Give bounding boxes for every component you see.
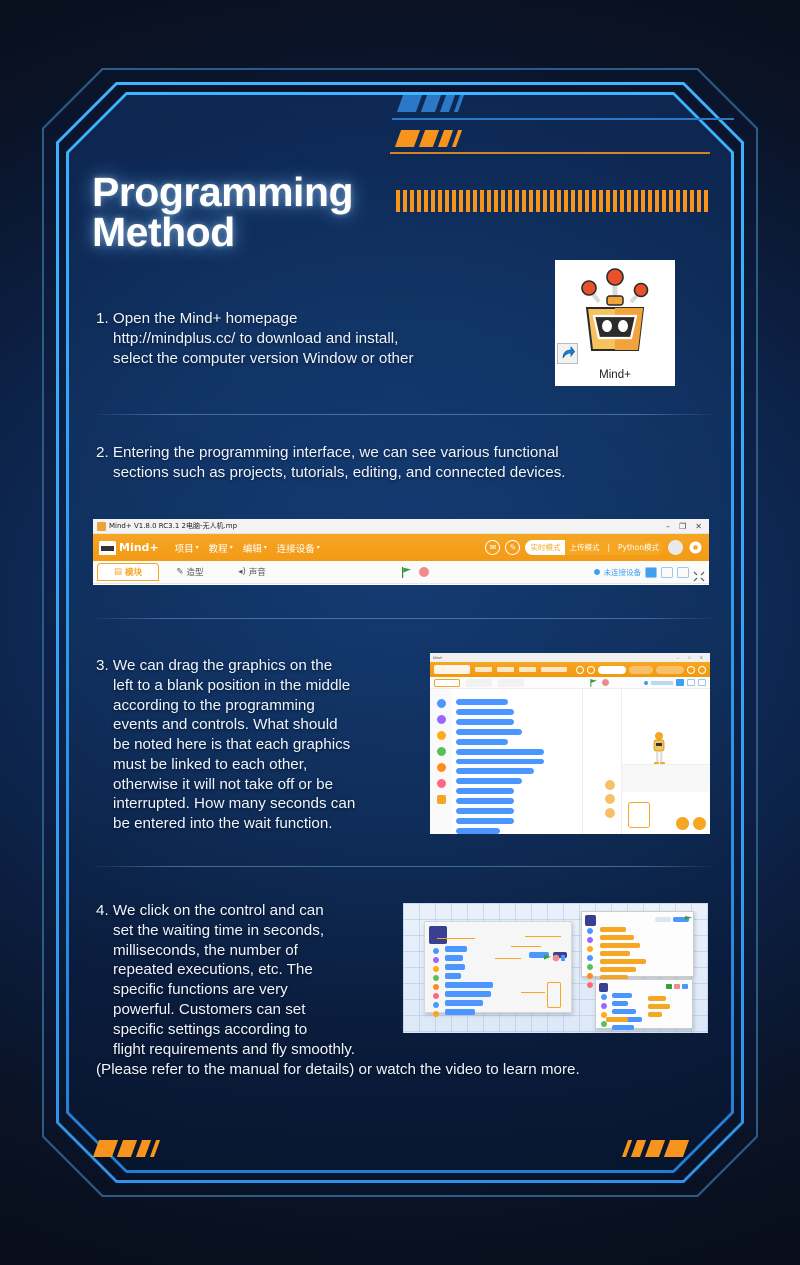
green-flag-icon[interactable] xyxy=(401,567,412,578)
window-title: Mind+ V1.8.0 RC3.1 2电脑-无人机.mp xyxy=(109,521,237,531)
step-1-number: 1. xyxy=(96,310,109,327)
s4-sub-panel-bottom[interactable] xyxy=(595,979,693,1029)
window-controls[interactable]: – ❐ ✕ xyxy=(666,522,705,531)
tab-modules[interactable]: ▤ 模块 xyxy=(97,563,159,581)
s3-workspace-canvas[interactable] xyxy=(582,689,622,834)
menu-item-project[interactable]: 项目 ▾ xyxy=(175,541,199,555)
s4-sub2-block[interactable] xyxy=(612,993,632,998)
step-4-line3: milliseconds, the number of xyxy=(96,941,396,961)
s4-sub-category-dot[interactable] xyxy=(587,982,593,988)
s3-tab-sounds[interactable] xyxy=(498,679,524,687)
step-4-line1: We click on the control and can xyxy=(113,902,324,919)
tab-sounds-label: 声音 xyxy=(249,566,266,578)
menu-label-connect-device: 连接设备 xyxy=(277,541,315,555)
s4-annotation-line xyxy=(495,958,521,959)
s3-block[interactable] xyxy=(456,699,508,705)
s4-sub-block[interactable] xyxy=(600,943,640,948)
decor-line-orange xyxy=(390,152,710,154)
blocks-icon: ▤ xyxy=(114,567,122,577)
brush-icon: ✎ xyxy=(176,567,183,577)
s4-sub2-flag-icon xyxy=(666,984,672,989)
s4-block[interactable] xyxy=(445,964,465,970)
s3-block-palette[interactable] xyxy=(452,689,582,834)
layout-medium-icon[interactable] xyxy=(661,567,673,578)
s4-sub-category-dot[interactable] xyxy=(587,955,593,961)
s4-sub2-block-orange[interactable] xyxy=(648,996,666,1001)
s3-brand-logo xyxy=(434,665,470,674)
s3-block[interactable] xyxy=(456,759,544,765)
s4-block[interactable] xyxy=(445,982,493,988)
s4-category-dot[interactable] xyxy=(433,984,439,990)
step-1-line2: http://mindplus.cc/ to download and inst… xyxy=(96,329,506,349)
maximize-button[interactable]: ❐ xyxy=(679,522,686,531)
s3-add-backdrop-icon[interactable] xyxy=(693,817,706,830)
s4-sub2-stop-icon xyxy=(674,984,680,989)
menu-label-project: 项目 xyxy=(175,541,194,555)
menu-item-edit[interactable]: 编辑 ▾ xyxy=(243,541,267,555)
step-3-line1: We can drag the graphics on the xyxy=(113,657,332,674)
s4-sub2-layout-icon xyxy=(682,984,688,989)
minimize-button[interactable]: – xyxy=(666,522,670,531)
s3-mode-realtime[interactable] xyxy=(598,666,626,674)
step-2-line1: Entering the programming interface, we c… xyxy=(113,444,559,461)
s4-sub-category-dot[interactable] xyxy=(587,928,593,934)
toolbar-right: 未连接设备 xyxy=(594,567,706,578)
step-1-line3: select the computer version Window or ot… xyxy=(96,349,506,369)
app-menu-bar: Mind+ 项目 ▾ 教程 ▾ 编辑 ▾ 连接设备 ▾ ✉ ✎ xyxy=(93,534,709,561)
step-4-number: 4. xyxy=(96,902,109,919)
mail-icon[interactable]: ✉ xyxy=(485,540,500,555)
s3-category-list[interactable] xyxy=(430,689,452,834)
s4-sub-pill[interactable] xyxy=(655,917,671,922)
s3-menu-item[interactable] xyxy=(475,667,492,672)
s3-menu-item[interactable] xyxy=(541,667,567,672)
step-2-line2: sections such as projects, tutorials, ed… xyxy=(96,463,696,483)
s4-category-dot[interactable] xyxy=(433,1011,439,1017)
run-controls xyxy=(401,567,429,578)
mindplus-brand-logo: Mind+ xyxy=(99,541,159,555)
s4-sub-block[interactable] xyxy=(600,951,630,956)
s3-block[interactable] xyxy=(456,739,508,745)
s3-menu-item[interactable] xyxy=(519,667,536,672)
s4-annotation-line xyxy=(437,938,475,939)
layout-small-icon[interactable] xyxy=(645,567,657,578)
s3-menu-bar xyxy=(430,662,710,677)
s4-annotation-line xyxy=(521,992,545,993)
s3-sprite-info-panel xyxy=(622,764,710,792)
s3-mode-upload[interactable] xyxy=(629,666,653,674)
step-3-line5: be noted here is that each graphics xyxy=(96,735,416,755)
mindplus-app-window[interactable]: Mind+ V1.8.0 RC3.1 2电脑-无人机.mp – ❐ ✕ Mind… xyxy=(93,519,709,585)
brand-robot-icon xyxy=(99,541,116,555)
s4-block-column[interactable] xyxy=(445,946,493,1015)
s3-add-sprite-icon[interactable] xyxy=(676,817,689,830)
stop-button-icon[interactable] xyxy=(419,567,429,577)
s4-block[interactable] xyxy=(445,946,467,952)
layout-large-icon[interactable] xyxy=(677,567,689,578)
s3-menu-right xyxy=(576,666,706,674)
s3-layout-icon[interactable] xyxy=(687,679,695,686)
s4-main-panel[interactable] xyxy=(424,921,572,1013)
decor-slashes-bottom-right xyxy=(625,1140,686,1157)
s4-block[interactable] xyxy=(445,991,491,997)
s4-block[interactable] xyxy=(445,955,463,961)
s4-category-column[interactable] xyxy=(433,948,439,1017)
gear-icon[interactable] xyxy=(688,540,703,555)
s4-sub-block[interactable] xyxy=(600,967,636,972)
s3-block[interactable] xyxy=(456,808,514,814)
s4-sub-panel-top[interactable] xyxy=(581,911,694,977)
fullscreen-icon[interactable] xyxy=(693,567,705,578)
s3-block[interactable] xyxy=(456,749,544,755)
s3-fab-buttons[interactable] xyxy=(676,817,706,830)
step-3-line6: must be linked to each other, xyxy=(96,755,416,775)
s3-green-flag-icon[interactable] xyxy=(590,679,598,687)
step-4-line8: flight requirements and fly smoothly. xyxy=(96,1040,711,1060)
close-button[interactable]: ✕ xyxy=(695,522,702,531)
step-2-number: 2. xyxy=(96,444,109,461)
s4-category-dot[interactable] xyxy=(433,957,439,963)
s3-block[interactable] xyxy=(456,798,514,804)
app-toolbar: ▤ 模块 ✎ 造型 ◂) 声音 未连接设备 xyxy=(93,561,709,584)
s4-sub2-block-orange[interactable] xyxy=(606,1017,628,1022)
tab-modules-label: 模块 xyxy=(125,566,142,578)
s3-zoom-out-icon[interactable] xyxy=(605,794,615,804)
s3-category-motion[interactable] xyxy=(437,699,446,708)
divider-3 xyxy=(94,866,712,867)
decor-line-blue xyxy=(392,118,734,120)
s4-category-dot[interactable] xyxy=(433,1002,439,1008)
s4-category-dot[interactable] xyxy=(433,975,439,981)
step-3-line8: interrupted. How many seconds can xyxy=(96,794,416,814)
decor-slashes-top-orange xyxy=(398,130,459,147)
s3-sprite-robot[interactable] xyxy=(648,731,670,767)
s3-mode-python[interactable] xyxy=(656,666,684,674)
step-4-line9: (Please refer to the manual for details)… xyxy=(96,1060,711,1080)
s4-sub2-block[interactable] xyxy=(612,1009,636,1014)
step-3-line2: left to a blank position in the middle xyxy=(96,676,416,696)
programming-method-page: Programming Method 1. Open the Mind+ hom… xyxy=(0,0,800,1265)
step-1-text: 1. Open the Mind+ homepage http://mindpl… xyxy=(96,309,506,368)
speaker-icon: ◂) xyxy=(238,567,246,577)
s3-sprite-thumbnail[interactable] xyxy=(628,802,650,828)
s4-logo-tile xyxy=(429,926,447,944)
s3-zoom-in-icon[interactable] xyxy=(605,780,615,790)
decor-slashes-bottom-left xyxy=(96,1140,157,1157)
s3-block[interactable] xyxy=(456,709,514,715)
s3-block[interactable] xyxy=(456,729,522,735)
s3-menu-item[interactable] xyxy=(497,667,514,672)
connection-status-dot xyxy=(594,569,600,575)
s3-category-operators[interactable] xyxy=(437,779,446,788)
decor-slashes-top-blue xyxy=(400,95,461,112)
s4-category-dot[interactable] xyxy=(433,993,439,999)
s3-category-control[interactable] xyxy=(437,747,446,756)
s3-block[interactable] xyxy=(456,828,500,834)
step-4-line5: specific functions are very xyxy=(96,980,396,1000)
step-4-text: 4. We click on the control and can set t… xyxy=(96,901,396,1039)
s3-block[interactable] xyxy=(456,818,514,824)
s3-category-sensing[interactable] xyxy=(437,763,446,772)
mindplus-desktop-icon[interactable]: Mind+ xyxy=(555,260,675,386)
step-4-text-continued: flight requirements and fly smoothly. (P… xyxy=(96,1040,711,1080)
divider-2 xyxy=(94,618,712,619)
s3-conn-dot xyxy=(644,681,648,685)
step-1-line1: Open the Mind+ homepage xyxy=(113,310,298,327)
s3-conn-text xyxy=(651,681,673,685)
mode-separator: | xyxy=(603,540,614,555)
s4-sub2-category-dot[interactable] xyxy=(601,994,607,1000)
page-title-line2: Method xyxy=(92,209,235,255)
brand-text: Mind+ xyxy=(119,541,159,554)
s4-sub2-block-orange[interactable] xyxy=(648,1004,670,1009)
s4-block[interactable] xyxy=(445,1009,475,1015)
s4-sub-category-dot[interactable] xyxy=(587,937,593,943)
s3-body xyxy=(430,689,710,834)
s4-annotation-line xyxy=(511,946,541,947)
s3-category-extensions[interactable] xyxy=(437,795,446,804)
s3-block[interactable] xyxy=(456,768,534,774)
menu-item-connect-device[interactable]: 连接设备 ▾ xyxy=(277,541,320,555)
chevron-down-icon: ▾ xyxy=(196,544,199,551)
avatar[interactable] xyxy=(668,540,683,555)
step-4-line6: powerful. Customers can set xyxy=(96,1000,396,1020)
chevron-down-icon: ▾ xyxy=(317,544,320,551)
s3-block[interactable] xyxy=(456,788,514,794)
step-4-line4: repeated executions, etc. The xyxy=(96,960,396,980)
chevron-down-icon: ▾ xyxy=(264,544,267,551)
s3-category-events[interactable] xyxy=(437,731,446,740)
mode-realtime[interactable]: 实时模式 xyxy=(525,540,565,555)
s3-gear-icon[interactable] xyxy=(698,666,706,674)
s3-block[interactable] xyxy=(456,778,522,784)
s4-sub-block[interactable] xyxy=(600,959,646,964)
divider-1 xyxy=(94,414,712,415)
s4-annotation-line xyxy=(525,936,561,937)
title-decor-bars xyxy=(396,190,710,212)
s3-tab-costumes[interactable] xyxy=(466,679,492,687)
s4-sub-logo xyxy=(585,915,596,926)
s3-category-looks[interactable] xyxy=(437,715,446,724)
s4-sub-block[interactable] xyxy=(600,927,626,932)
app-icon xyxy=(97,522,106,531)
menu-label-tutorial: 教程 xyxy=(209,541,228,555)
s3-layout-icon[interactable] xyxy=(676,679,684,686)
step-3-number: 3. xyxy=(96,657,109,674)
s3-stop-icon[interactable] xyxy=(602,679,609,686)
s3-toolbar xyxy=(430,677,710,689)
s4-category-dot[interactable] xyxy=(433,948,439,954)
s3-stage-area[interactable] xyxy=(622,689,710,834)
s4-sub2-block[interactable] xyxy=(612,1001,628,1006)
s3-zoom-reset-icon[interactable] xyxy=(605,808,615,818)
step-4-line2: set the waiting time in seconds, xyxy=(96,921,396,941)
tab-costumes[interactable]: ✎ 造型 xyxy=(159,563,221,581)
step-3-line9: be entered into the wait function. xyxy=(96,814,416,834)
mindplus-icon-label: Mind+ xyxy=(555,369,675,381)
s3-fullscreen-icon[interactable] xyxy=(698,679,706,686)
tab-sounds[interactable]: ◂) 声音 xyxy=(221,563,283,581)
control-settings-diagram[interactable] xyxy=(403,903,708,1033)
s3-mail-icon[interactable] xyxy=(576,666,584,674)
s4-category-dot[interactable] xyxy=(433,966,439,972)
s4-sub2-category-dot[interactable] xyxy=(601,1003,607,1009)
s4-sub-category-dot[interactable] xyxy=(587,964,593,970)
chevron-down-icon: ▾ xyxy=(230,544,233,551)
mode-switcher[interactable]: 实时模式 上传模式 | Python模式 xyxy=(525,540,663,555)
s4-sub-flag-icon xyxy=(684,915,694,924)
s3-block[interactable] xyxy=(456,719,514,725)
edit-icon[interactable]: ✎ xyxy=(505,540,520,555)
s3-avatar[interactable] xyxy=(687,666,695,674)
mode-upload[interactable]: 上传模式 xyxy=(565,540,603,555)
s4-sub-category-dot[interactable] xyxy=(587,946,593,952)
connection-status-text: 未连接设备 xyxy=(604,567,642,578)
page-title: Programming Method xyxy=(92,172,412,252)
step-3-line4: events and controls. What should xyxy=(96,715,416,735)
step-4-line7: specific settings according to xyxy=(96,1020,396,1040)
menu-item-tutorial[interactable]: 教程 ▾ xyxy=(209,541,233,555)
s3-title-bar: Mind+– □ ✕ xyxy=(430,653,710,662)
s4-green-flag-icon xyxy=(543,954,565,966)
s3-edit-icon[interactable] xyxy=(587,666,595,674)
s4-sub2-block[interactable] xyxy=(612,1025,634,1030)
window-title-bar: Mind+ V1.8.0 RC3.1 2电脑-无人机.mp – ❐ ✕ xyxy=(93,519,709,534)
mindplus-ide-screenshot[interactable]: Mind+– □ ✕ xyxy=(430,653,710,834)
s4-sub-category-dot[interactable] xyxy=(587,973,593,979)
menu-bar-right: ✉ ✎ 实时模式 上传模式 | Python模式 xyxy=(485,540,703,555)
step-3-line3: according to the programming xyxy=(96,696,416,716)
s4-annotation-box xyxy=(547,982,561,1008)
s4-sub-block[interactable] xyxy=(600,935,634,940)
menu-label-edit: 编辑 xyxy=(243,541,262,555)
step-3-line7: otherwise it will not take off or be xyxy=(96,775,416,795)
s4-sub2-block-orange[interactable] xyxy=(648,1012,662,1017)
step-2-text: 2. Entering the programming interface, w… xyxy=(96,443,696,483)
s4-block[interactable] xyxy=(445,1000,483,1006)
step-3-text: 3. We can drag the graphics on the left … xyxy=(96,656,416,834)
shortcut-arrow-icon xyxy=(557,343,578,364)
s3-tab-modules[interactable] xyxy=(434,679,460,687)
mode-python[interactable]: Python模式 xyxy=(614,540,663,555)
s4-sub2-category-dot[interactable] xyxy=(601,1021,607,1027)
s4-block[interactable] xyxy=(445,973,461,979)
tab-costumes-label: 造型 xyxy=(187,566,204,578)
s4-sub-logo xyxy=(599,983,608,992)
mindplus-robot-icon xyxy=(577,268,653,352)
